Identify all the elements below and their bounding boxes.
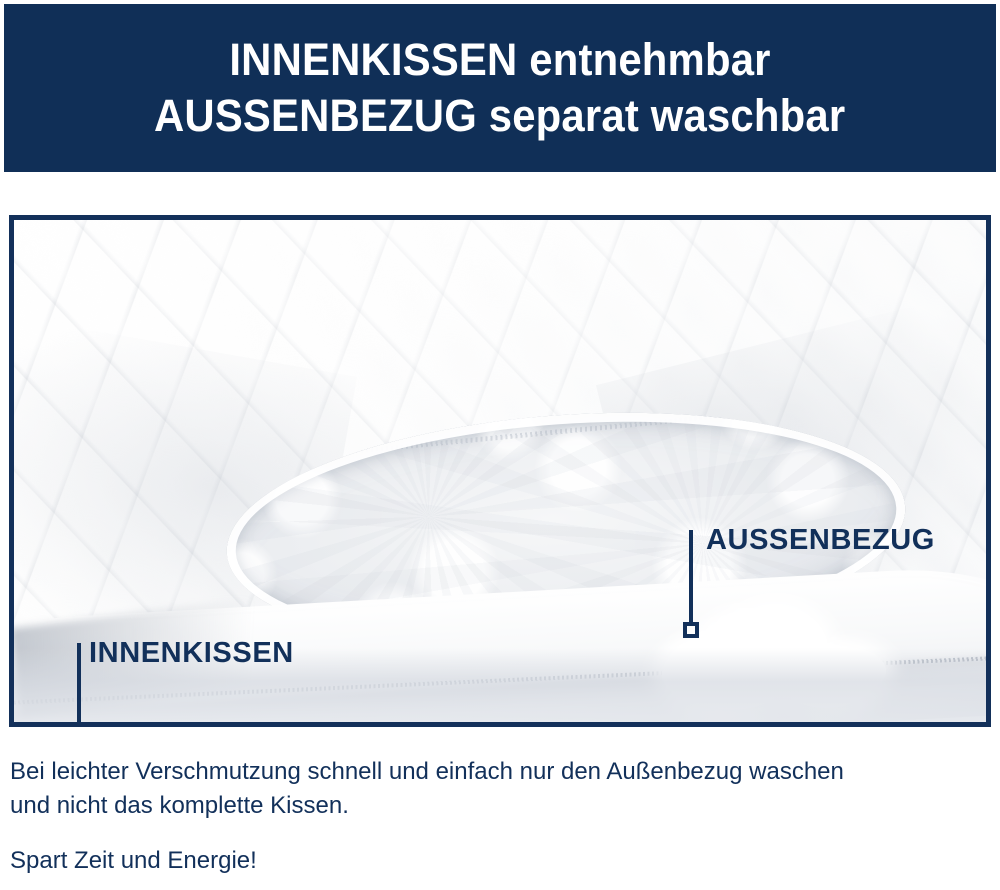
caption-line-3: Spart Zeit und Energie! xyxy=(10,844,985,878)
banner-line-2: AUSSENBEZUG separat waschbar xyxy=(154,88,845,144)
callout-innenkissen-leader-line xyxy=(77,643,81,722)
caption-line-2: und nicht das komplette Kissen. xyxy=(10,789,985,823)
banner-line-1: INNENKISSEN entnehmbar xyxy=(229,32,770,88)
callout-innenkissen-label: INNENKISSEN xyxy=(89,639,294,668)
pillow-photo: AUSSENBEZUG INNENKISSEN xyxy=(14,220,986,722)
callout-aussenbezug-leader-line xyxy=(689,530,693,626)
caption-line-1: Bei leichter Verschmutzung schnell und e… xyxy=(10,755,985,789)
callout-aussenbezug-label: AUSSENBEZUG xyxy=(706,526,935,555)
product-photo-frame: AUSSENBEZUG INNENKISSEN xyxy=(9,215,991,727)
caption-block: Bei leichter Verschmutzung schnell und e… xyxy=(10,755,985,878)
square-marker-icon xyxy=(683,622,699,638)
header-banner: INNENKISSEN entnehmbar AUSSENBEZUG separ… xyxy=(4,4,996,172)
